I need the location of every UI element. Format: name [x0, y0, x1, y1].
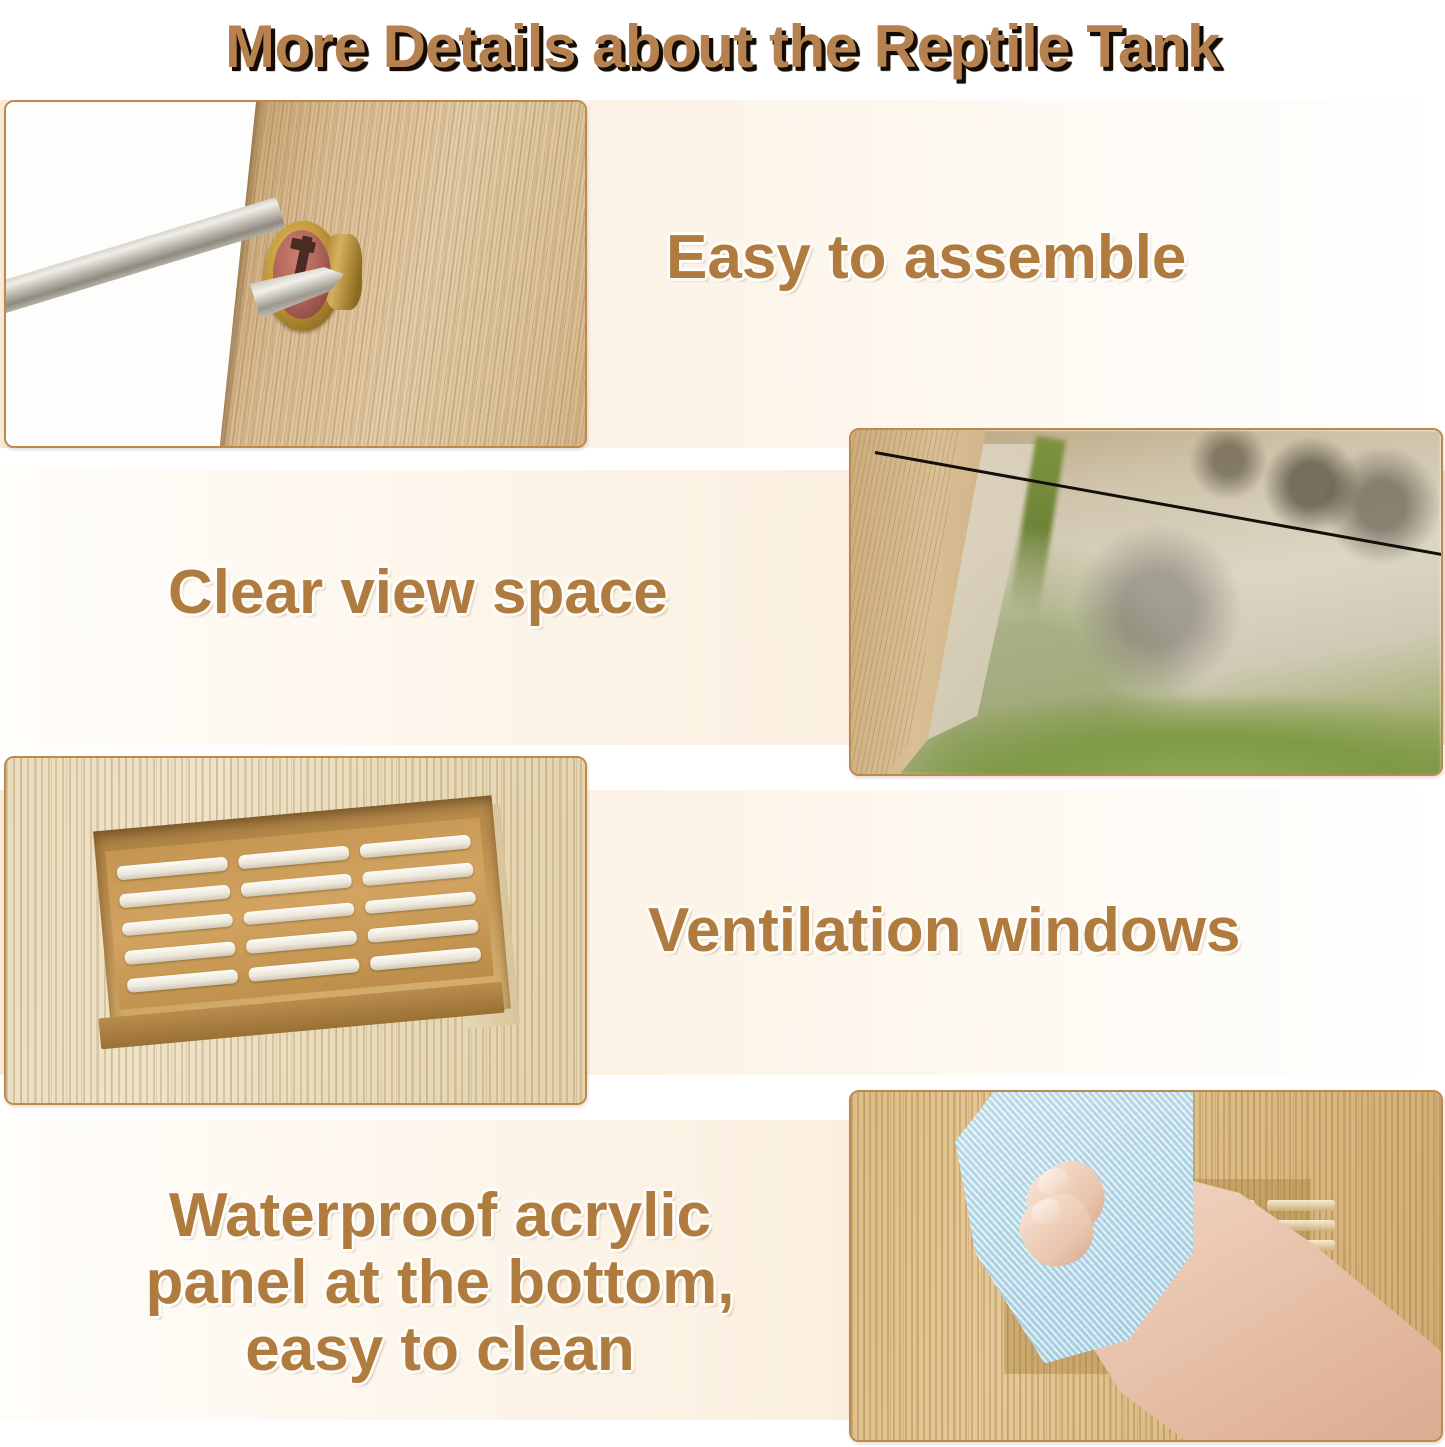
feature-label-ventilation-windows: Ventilation windows: [648, 898, 1240, 965]
photo-content: [6, 758, 585, 1103]
grille-column-1: [116, 857, 238, 993]
feature-photo-hand-wiping-panel-with-blue-microfiber-cloth: [849, 1090, 1443, 1442]
vent-slot: [370, 947, 481, 971]
feature-photo-recessed-wooden-ventilation-grille: [4, 756, 587, 1105]
vent-slot: [124, 941, 235, 965]
photo-content: [851, 1092, 1441, 1440]
feature-label-easy-to-assemble: Easy to assemble: [666, 225, 1186, 292]
vent-slot: [116, 857, 227, 881]
feature-photo-screwdriver-driving-screw-into-wood-panel: [4, 100, 587, 448]
feature-label-waterproof-acrylic-panel: Waterproof acrylic panel at the bottom, …: [95, 1183, 785, 1384]
grille-column-2: [238, 846, 360, 982]
vent-slot: [243, 902, 354, 926]
vent-slot: [367, 919, 478, 943]
page-title: More Details about the Reptile Tank: [225, 12, 1220, 81]
vent-slot: [1267, 1200, 1335, 1211]
vent-slot: [121, 913, 232, 937]
vent-slot: [240, 874, 351, 898]
feature-photo-wooden-frame-with-clear-acrylic-view-panel: [849, 428, 1443, 776]
photo-content: [6, 102, 585, 446]
ventilation-grille: [105, 818, 493, 1010]
vent-slot: [245, 930, 356, 954]
vent-slot: [238, 846, 349, 870]
vent-slot: [362, 863, 473, 887]
vent-slot: [359, 835, 470, 859]
grille-column-3: [359, 835, 481, 971]
vent-slot: [119, 885, 230, 909]
vent-slot: [248, 958, 359, 982]
page-title-bar: More Details about the Reptile Tank: [0, 0, 1445, 92]
feature-label-clear-view-space: Clear view space: [168, 560, 668, 627]
vent-slot: [364, 891, 475, 915]
vent-slot: [127, 969, 238, 993]
photo-content: [851, 430, 1441, 774]
